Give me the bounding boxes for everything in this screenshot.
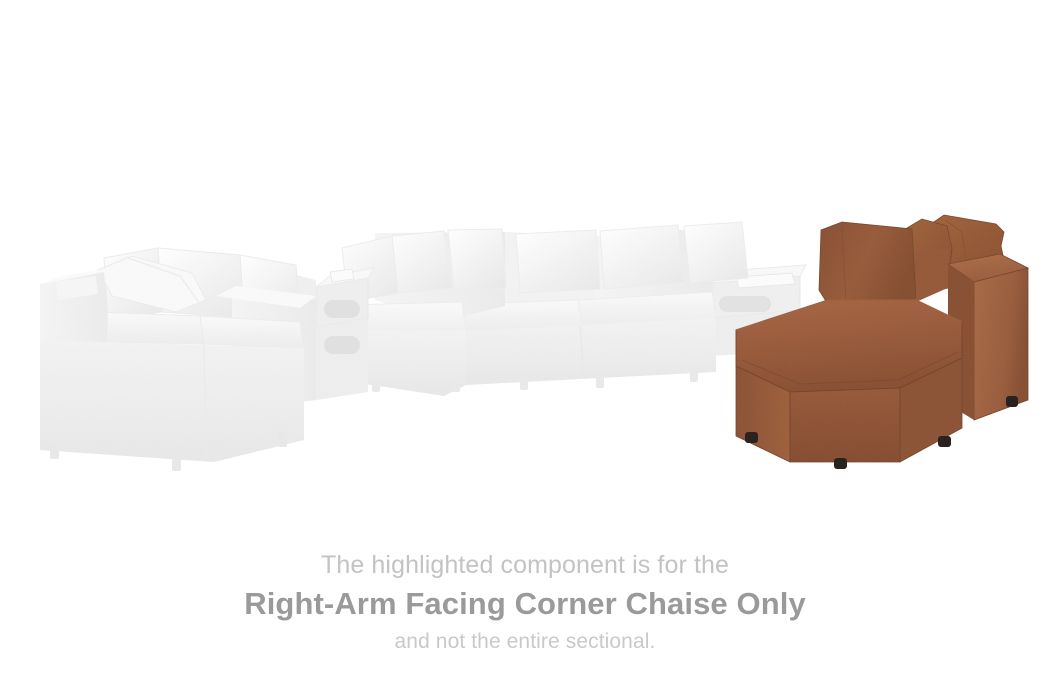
caption-block: The highlighted component is for the Rig… [0,548,1050,657]
sectional-sofa-illustration [0,0,1050,520]
chaise-foot-left [745,432,758,443]
right-arm-facing-corner-chaise-highlight [736,215,1028,469]
caption-line-disclaimer: and not the entire sectional. [0,627,1050,657]
cupholder-slot-icon [719,296,771,312]
chaise-foot-right [938,436,951,447]
cupholder-slot-icon-top [324,300,360,318]
chaise-foot-far-right [1006,396,1018,407]
chaise-right-arm-outer [974,268,1028,420]
caption-line-intro: The highlighted component is for the [0,548,1050,582]
chaise-foot-center [834,458,847,469]
chaise-backrest-cushion [819,222,916,308]
caption-line-component-name: Right-Arm Facing Corner Chaise Only [0,584,1050,624]
chaise-base-main [790,388,900,462]
left-loveseat-ghost [40,248,316,471]
ghosted-sectional-group [40,222,806,471]
product-illustration-page: The highlighted component is for the Rig… [0,0,1050,700]
cupholder-slot-icon-bottom [324,336,360,354]
chaise-back-frame [916,248,952,302]
left-console-ghost [316,268,374,400]
